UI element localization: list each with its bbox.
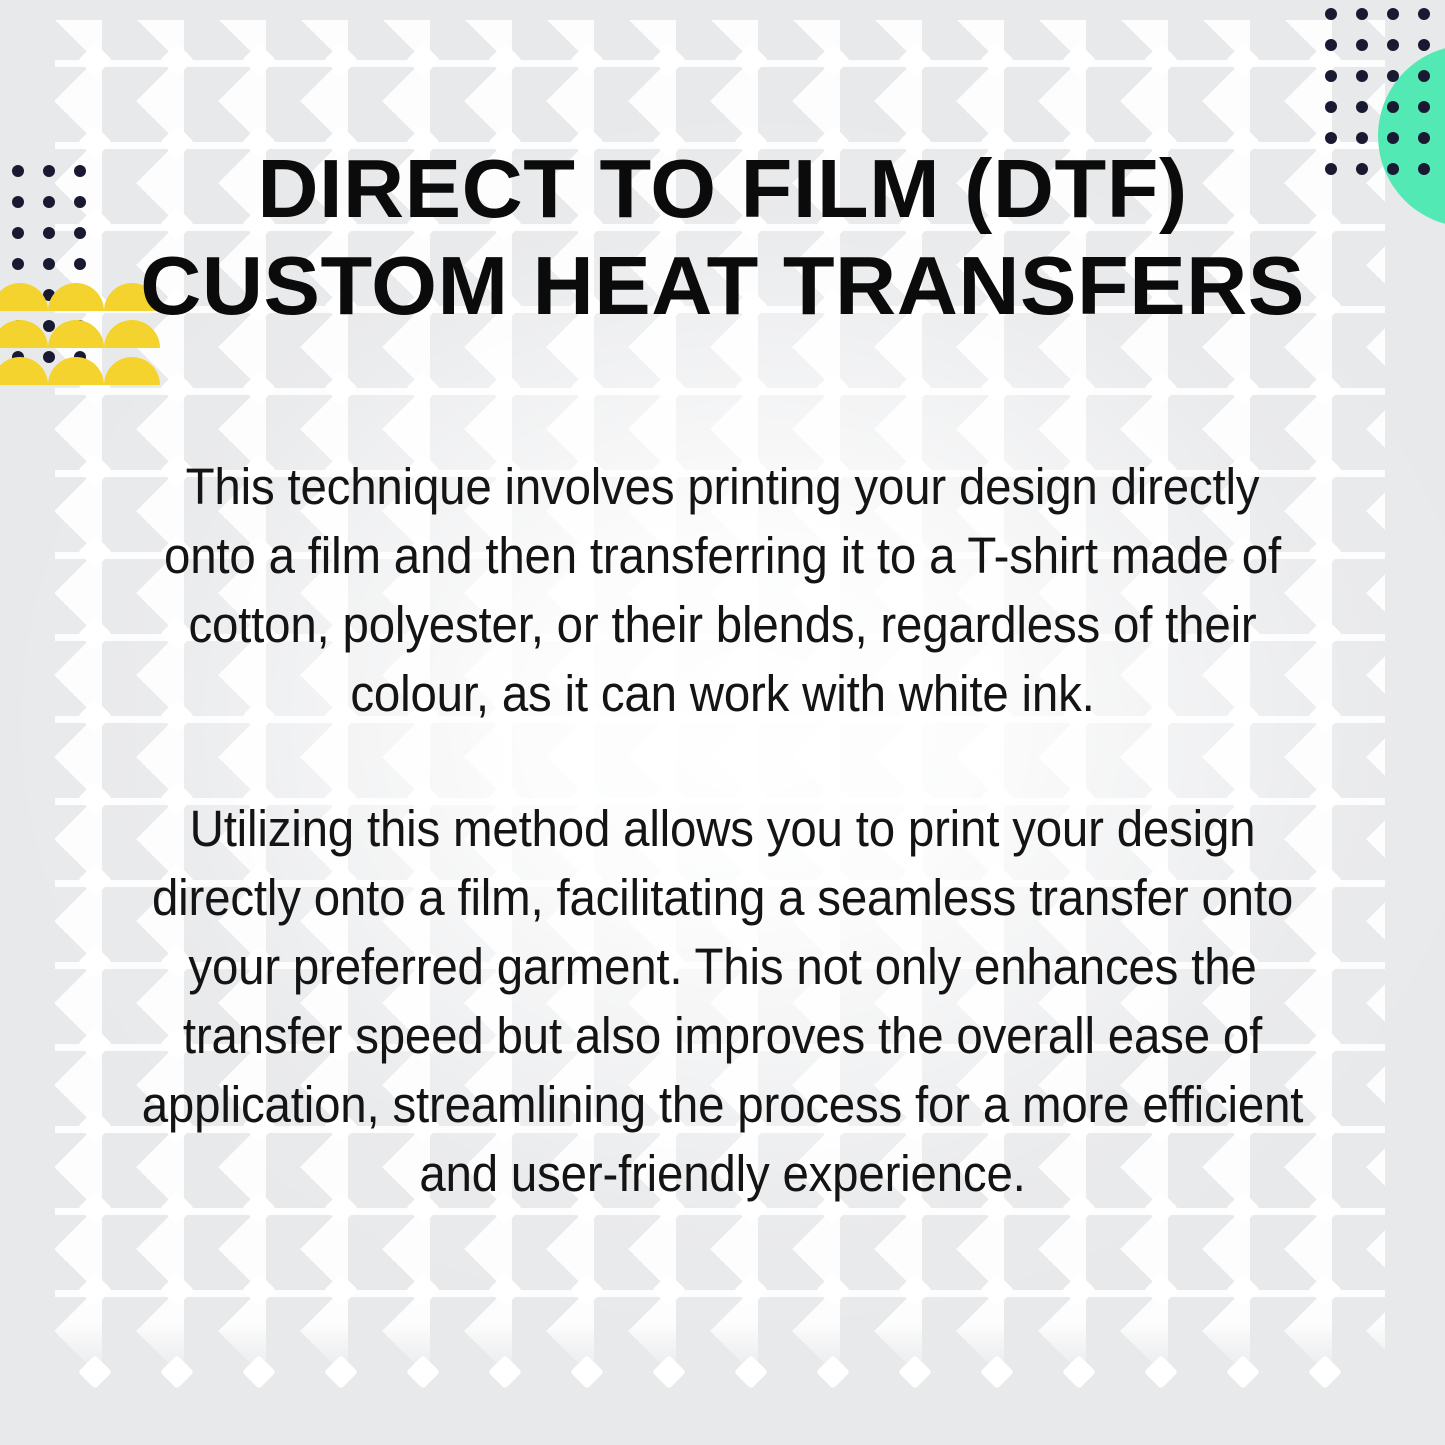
title-line-1: DIRECT TO FILM (DTF): [0, 140, 1445, 237]
paragraph-1: This technique involves printing your de…: [136, 452, 1309, 728]
poster-content: DIRECT TO FILM (DTF) CUSTOM HEAT TRANSFE…: [0, 0, 1445, 1445]
body-copy: This technique involves printing your de…: [92, 452, 1353, 1208]
page-title: DIRECT TO FILM (DTF) CUSTOM HEAT TRANSFE…: [0, 140, 1445, 334]
paragraph-2: Utilizing this method allows you to prin…: [136, 794, 1309, 1208]
poster-canvas: DIRECT TO FILM (DTF) CUSTOM HEAT TRANSFE…: [0, 0, 1445, 1445]
title-line-2: CUSTOM HEAT TRANSFERS: [0, 237, 1445, 334]
